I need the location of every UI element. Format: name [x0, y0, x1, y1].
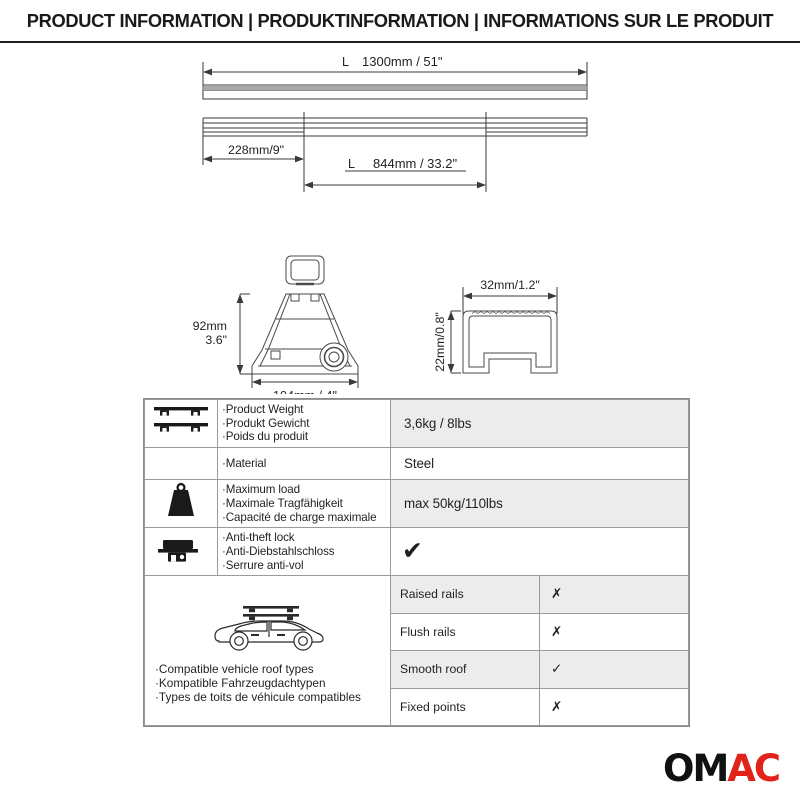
roof-type-name-cell: Flush rails [391, 613, 540, 651]
technical-drawing: L 1300mm / 51" 228mm/9" L 844mm / 33.2" … [0, 44, 800, 394]
weight-icon [161, 509, 201, 526]
omac-logo-red-part: AC [727, 750, 779, 787]
material-label-cell: ·Material [218, 447, 391, 480]
label-line: ·Anti-Diebstahlschloss [222, 545, 388, 559]
dimension-span-prefix-label: L [348, 157, 355, 171]
anti-theft-label-cell: ·Anti-theft lock ·Anti-Diebstahlschloss … [218, 528, 391, 576]
roof-type-name: Smooth roof [391, 662, 492, 676]
dimension-height-label-2: 3.6" [205, 333, 227, 347]
specification-table: ·Product Weight ·Produkt Gewicht ·Poids … [143, 398, 690, 727]
table-row: ·Product Weight ·Produkt Gewicht ·Poids … [145, 400, 689, 448]
material-value: Steel [391, 456, 688, 471]
roof-type-name: Raised rails [391, 587, 492, 601]
title-divider [0, 41, 800, 43]
table-row: ·Compatible vehicle roof types ·Kompatib… [145, 576, 689, 726]
crossbar-plan-view [203, 112, 587, 144]
roof-type-row: Smooth roof ✓ [391, 651, 688, 689]
label-line: ·Anti-theft lock [222, 531, 388, 545]
label-line: ·Poids du produit [222, 430, 388, 444]
label-line: ·Types de toits de véhicule compatibles [155, 690, 386, 704]
roof-type-mark: ✗ [540, 624, 688, 640]
roof-type-name: Fixed points [391, 700, 492, 714]
anti-theft-value-cell: ✔ [391, 528, 689, 576]
roof-type-name-cell: Fixed points [391, 688, 540, 725]
profile-cross-section [463, 311, 557, 373]
dimension-profile-width-label: 32mm/1.2" [480, 278, 540, 292]
label-line: ·Produkt Gewicht [222, 417, 388, 431]
product-weight-value: 3,6kg / 8lbs [391, 416, 688, 431]
dimension-span-label: 844mm / 33.2" [373, 156, 457, 171]
material-icon-cell [145, 447, 218, 480]
roof-type-mark-cell: ✗ [540, 613, 689, 651]
dimension-total-label: 1300mm / 51" [362, 54, 443, 69]
label-line: ·Maximale Tragfähigkeit [222, 497, 388, 511]
dimension-offset-label: 228mm/9" [228, 143, 284, 157]
dimension-height-label-1: 92mm [193, 319, 227, 333]
dimension-foot-height [237, 294, 252, 374]
roof-type-mark-cell: ✗ [540, 576, 689, 613]
label-line: ·Maximum load [222, 483, 388, 497]
roof-type-name-cell: Raised rails [391, 576, 540, 613]
crossbar-pair-icon [152, 428, 210, 445]
dimension-foot-width [252, 374, 358, 388]
roof-types-subtable-cell: Raised rails ✗ Flush rails [391, 576, 689, 726]
compatible-roof-types-label-cell: ·Compatible vehicle roof types ·Kompatib… [145, 576, 391, 726]
omac-logo: OM AC [663, 748, 779, 788]
crossbar-top-view [203, 85, 587, 99]
label-line: ·Material [222, 457, 388, 471]
crossbar-pair-icon-cell [145, 400, 218, 448]
label-line: ·Compatible vehicle roof types [155, 662, 386, 676]
roof-type-mark: ✗ [540, 699, 688, 715]
weight-icon-cell [145, 480, 218, 528]
roof-type-mark: ✓ [540, 661, 688, 677]
dimension-profile-height [448, 311, 461, 373]
roof-type-name-cell: Smooth roof [391, 651, 540, 689]
maximum-load-label-cell: ·Maximum load ·Maximale Tragfähigkeit ·C… [218, 480, 391, 528]
car-with-rack-icon [151, 593, 386, 660]
product-weight-label-cell: ·Product Weight ·Produkt Gewicht ·Poids … [218, 400, 391, 448]
roof-type-row: Fixed points ✗ [391, 688, 688, 725]
product-weight-value-cell: 3,6kg / 8lbs [391, 400, 689, 448]
label-line: ·Kompatible Fahrzeugdachtypen [155, 676, 386, 690]
page-title: PRODUCT INFORMATION | PRODUKTINFORMATION… [27, 10, 773, 32]
omac-logo-dark-part: OM [663, 750, 727, 787]
label-line: ·Serrure anti-vol [222, 559, 388, 573]
roof-type-row: Flush rails ✗ [391, 613, 688, 651]
material-value-cell: Steel [391, 447, 689, 480]
dimension-total-prefix-label: L [342, 55, 349, 69]
page-title-bar: PRODUCT INFORMATION | PRODUKTINFORMATION… [0, 0, 800, 42]
label-line: ·Capacité de charge maximale [222, 511, 388, 525]
roof-type-row: Raised rails ✗ [391, 576, 688, 613]
product-information-sheet: PRODUCT INFORMATION | PRODUKTINFORMATION… [0, 0, 800, 800]
dimension-width-label: 104mm / 4" [273, 389, 337, 394]
roof-type-mark: ✗ [540, 586, 688, 602]
roof-type-mark-cell: ✓ [540, 651, 689, 689]
anti-theft-check-mark: ✔ [391, 539, 688, 564]
dimension-profile-height-label: 22mm/0.8" [433, 312, 447, 372]
table-row: ·Material Steel [145, 447, 689, 480]
maximum-load-value-cell: max 50kg/110lbs [391, 480, 689, 528]
table-row: ·Maximum load ·Maximale Tragfähigkeit ·C… [145, 480, 689, 528]
roof-types-table: Raised rails ✗ Flush rails [391, 576, 688, 725]
roof-type-name: Flush rails [391, 625, 492, 639]
lock-icon-cell [145, 528, 218, 576]
label-line: ·Product Weight [222, 403, 388, 417]
lock-icon [156, 553, 206, 570]
maximum-load-value: max 50kg/110lbs [391, 496, 688, 511]
roof-type-mark-cell: ✗ [540, 688, 689, 725]
table-row: ·Anti-theft lock ·Anti-Diebstahlschloss … [145, 528, 689, 576]
foot-front-view [252, 256, 358, 374]
